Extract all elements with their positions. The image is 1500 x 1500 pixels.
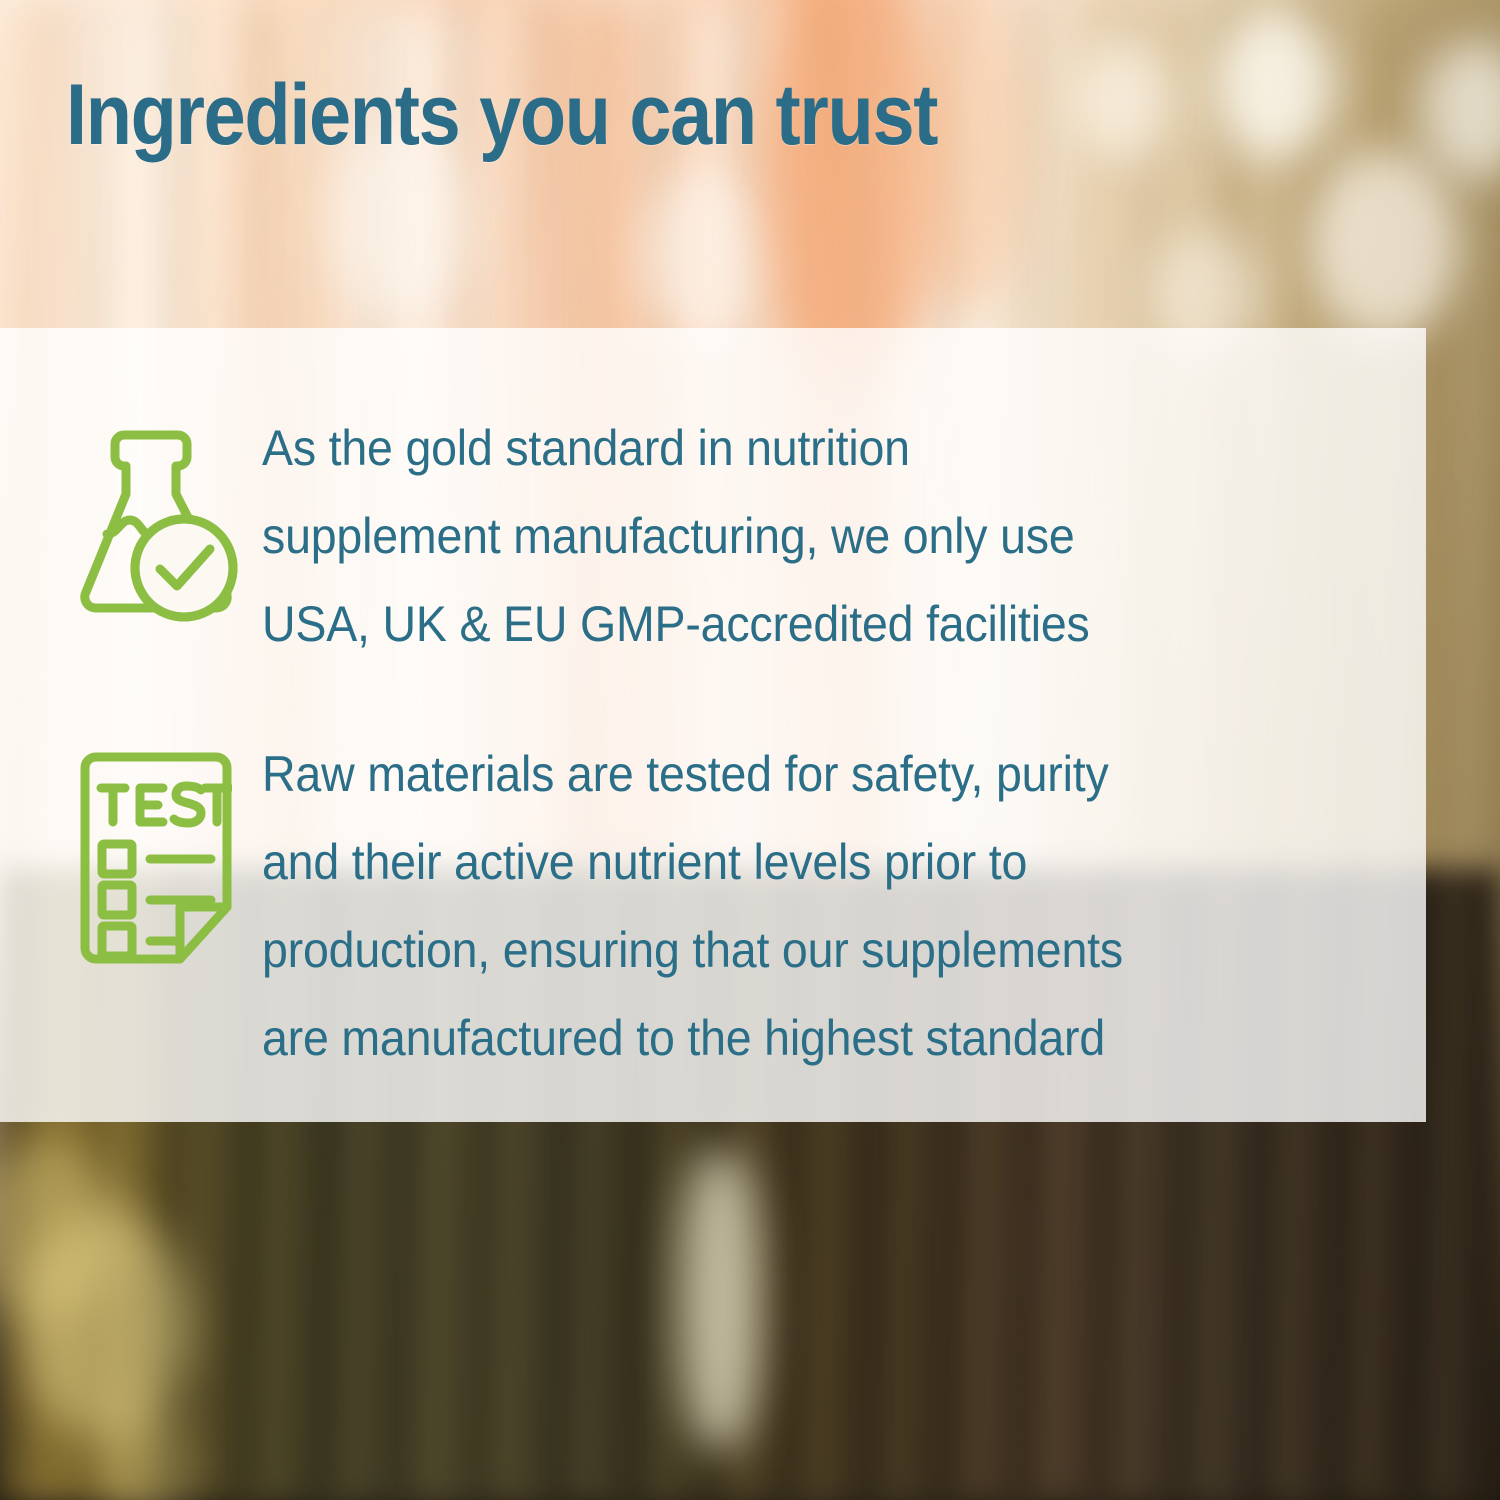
bokeh-glow — [680, 1150, 760, 1450]
feature-text-line: As the gold standard in nutrition — [262, 404, 1090, 492]
feature-text-line: production, ensuring that our supplement… — [262, 906, 1123, 994]
feature-text-gmp: As the gold standard in nutrition supple… — [262, 404, 1090, 668]
feature-text-line: USA, UK & EU GMP-accredited facilities — [262, 580, 1090, 668]
feature-row-gmp: As the gold standard in nutrition supple… — [80, 420, 1152, 668]
feature-text-line: supplement manufacturing, we only use — [262, 492, 1090, 580]
flask-check-icon — [80, 424, 240, 629]
feature-row-testing: Raw materials are tested for safety, pur… — [80, 748, 1188, 1082]
test-document-icon — [80, 752, 232, 970]
feature-icon-cell — [80, 420, 250, 629]
bokeh-highlight — [640, 170, 770, 340]
feature-icon-cell — [80, 748, 250, 970]
feature-text-line: and their active nutrient levels prior t… — [262, 818, 1123, 906]
feature-text-line: are manufactured to the highest standard — [262, 994, 1123, 1082]
bokeh-highlight — [1075, 40, 1170, 160]
content-panel: As the gold standard in nutrition supple… — [0, 328, 1426, 1122]
bokeh-highlight — [1215, 10, 1335, 160]
feature-text-testing: Raw materials are tested for safety, pur… — [262, 730, 1123, 1082]
promo-banner: Ingredients you can trust As the gold st… — [0, 0, 1500, 1500]
bokeh-highlight — [1310, 150, 1460, 340]
feature-text-line: Raw materials are tested for safety, pur… — [262, 730, 1123, 818]
page-title: Ingredients you can trust — [66, 70, 937, 160]
